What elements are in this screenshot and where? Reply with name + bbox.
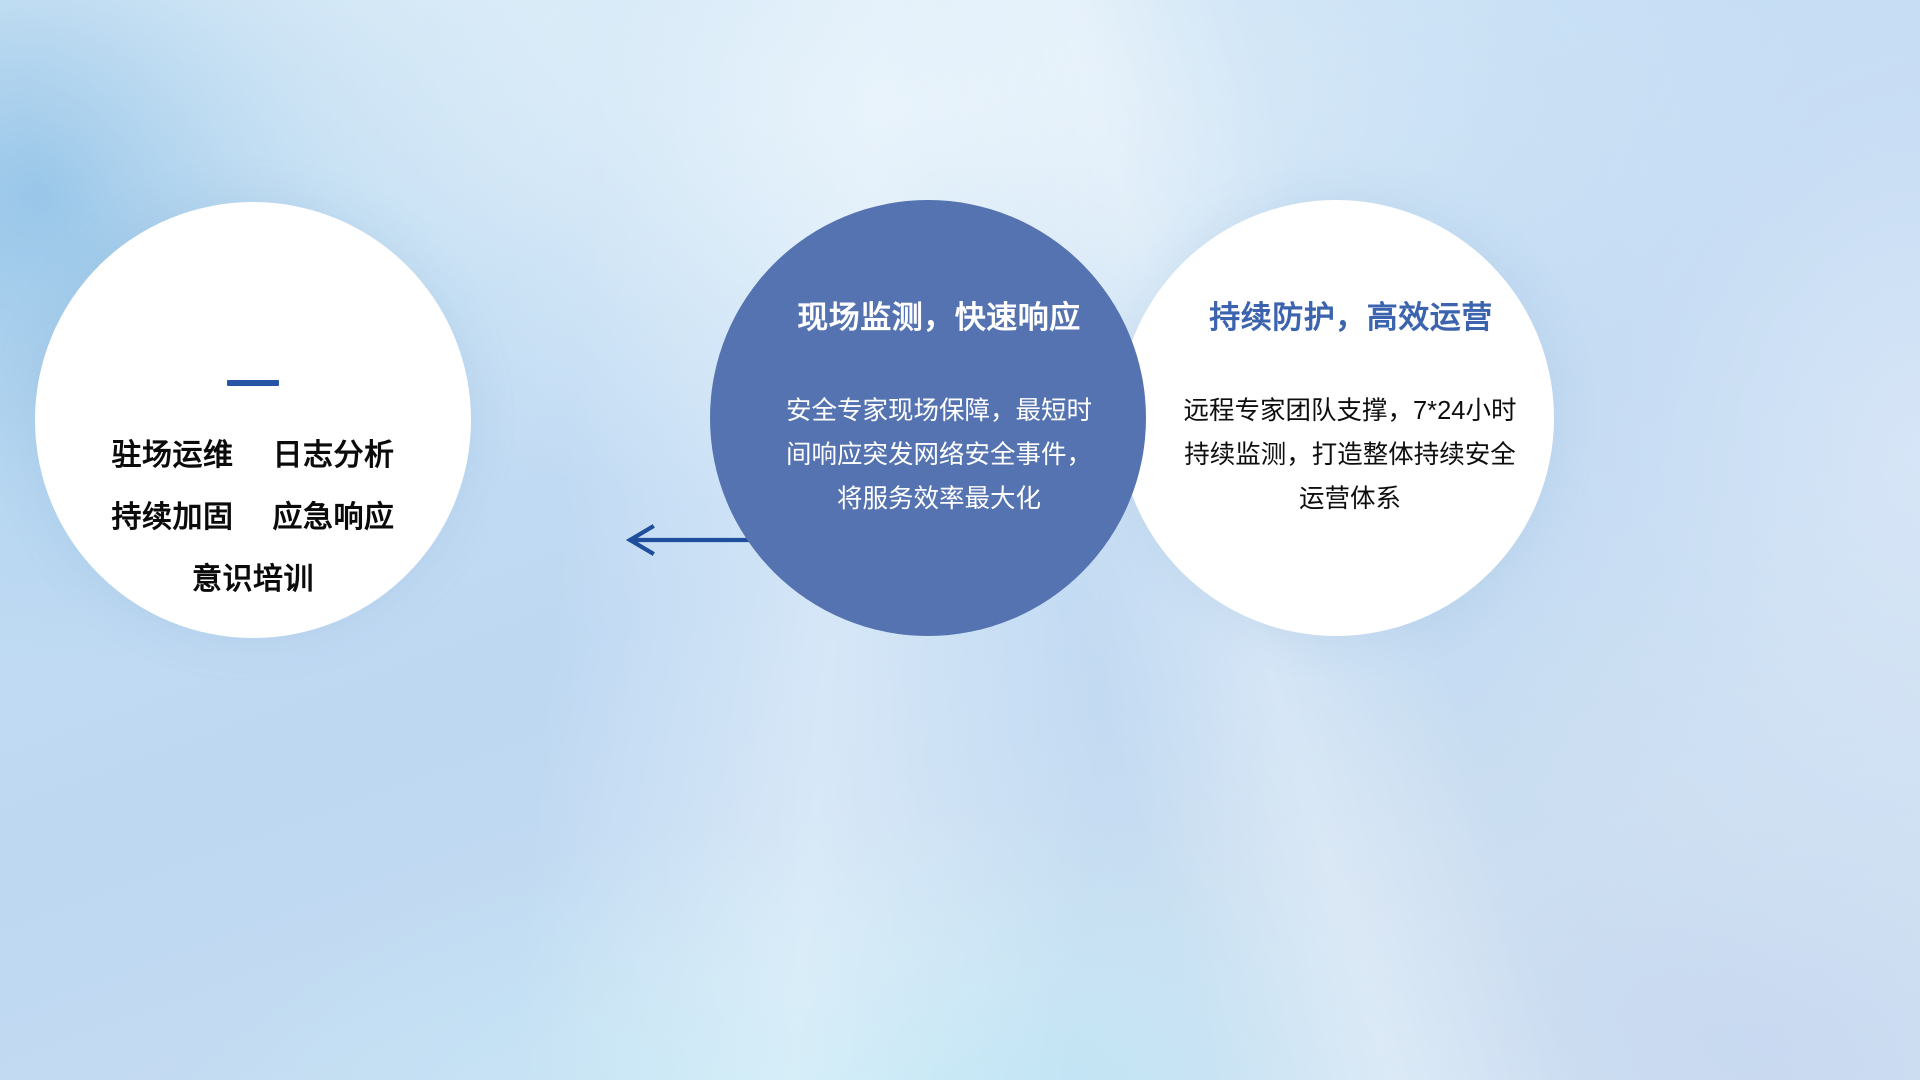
keyword-item[interactable]: 持续加固 <box>112 503 234 533</box>
onsite-monitoring-content: 现场监测，快速响应 安全专家现场保障，最短时间响应突发网络安全事件，将服务效率最… <box>710 200 1146 521</box>
continuous-protection-circle-card[interactable]: 持续防护，高效运营 远程专家团队支撑，7*24小时持续监测，打造整体持续安全运营… <box>1118 200 1554 636</box>
keywords-circle-card[interactable]: 驻场运维 日志分析 持续加固 应急响应 意识培训 <box>35 202 471 638</box>
keyword-item[interactable]: 驻场运维 <box>112 441 234 471</box>
slide-canvas: 驻场运维 日志分析 持续加固 应急响应 意识培训 持续防护，高效运营 远程专家团… <box>0 0 1920 1080</box>
continuous-protection-content: 持续防护，高效运营 远程专家团队支撑，7*24小时持续监测，打造整体持续安全运营… <box>1118 200 1554 521</box>
keyword-item[interactable]: 日志分析 <box>273 441 395 471</box>
keyword-row: 驻场运维 日志分析 <box>112 441 395 471</box>
keywords-content: 驻场运维 日志分析 持续加固 应急响应 意识培训 <box>35 202 471 595</box>
onsite-monitoring-heading: 现场监测，快速响应 <box>797 292 1081 337</box>
keyword-row: 持续加固 应急响应 <box>112 503 395 533</box>
onsite-monitoring-circle-card[interactable]: 现场监测，快速响应 安全专家现场保障，最短时间响应突发网络安全事件，将服务效率最… <box>710 200 1146 636</box>
continuous-protection-body: 远程专家团队支撑，7*24小时持续监测，打造整体持续安全运营体系 <box>1172 389 1528 521</box>
keyword-item[interactable]: 意识培训 <box>192 565 314 595</box>
keyword-row: 意识培训 <box>192 565 314 595</box>
continuous-protection-heading: 持续防护，高效运营 <box>1209 292 1493 337</box>
onsite-monitoring-body: 安全专家现场保障，最短时间响应突发网络安全事件，将服务效率最大化 <box>780 389 1098 521</box>
keyword-item[interactable]: 应急响应 <box>273 503 395 533</box>
short-dash-divider-icon <box>227 380 279 386</box>
